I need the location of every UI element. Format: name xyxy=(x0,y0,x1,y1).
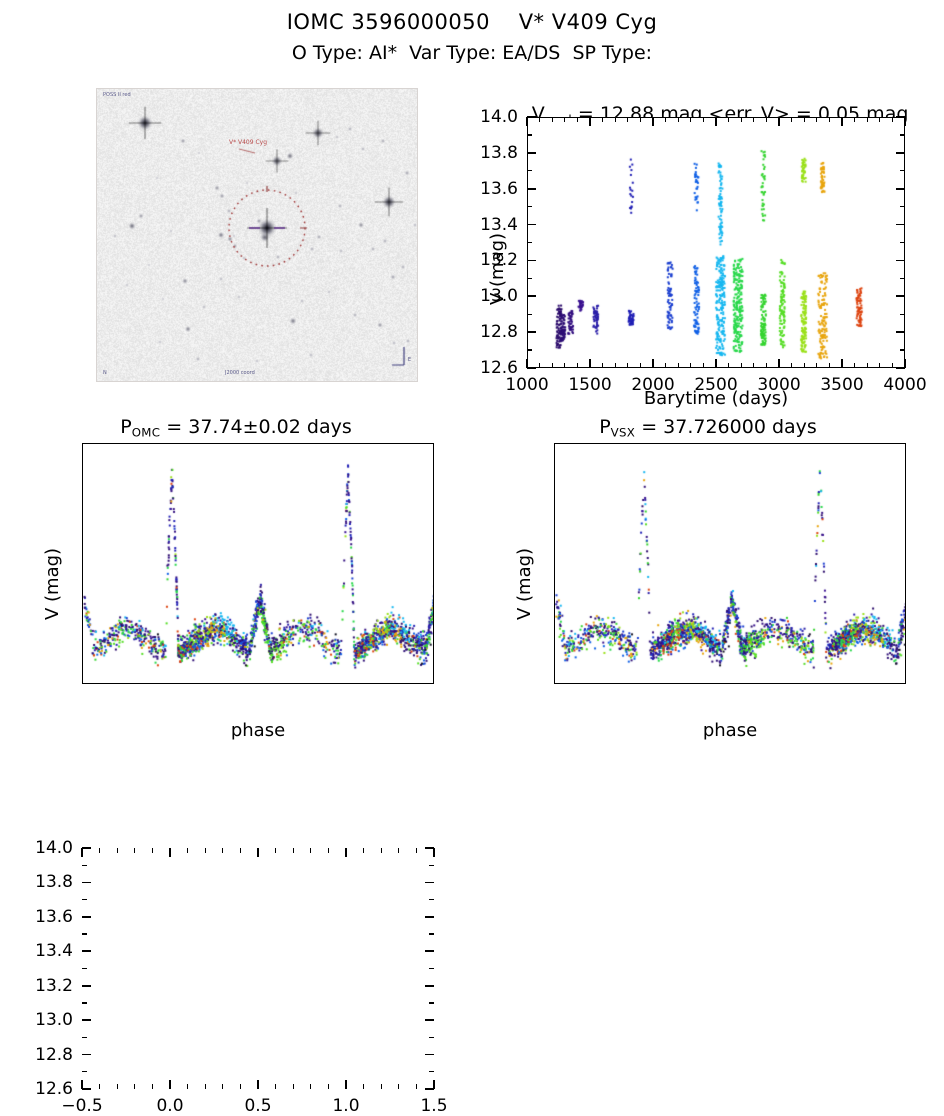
x-tick-minor xyxy=(416,1084,417,1089)
y-tick-major xyxy=(527,152,536,154)
y-tick-label: 12.8 xyxy=(35,1045,73,1065)
y-tick-minor xyxy=(527,170,532,171)
phase-vsx-title: PVSX = 37.726000 days xyxy=(472,416,944,439)
y-tick-minor xyxy=(527,314,532,315)
x-tick-minor xyxy=(99,1084,100,1089)
y-tick-minor xyxy=(82,899,87,900)
x-tick-major xyxy=(257,1080,259,1089)
x-tick-minor xyxy=(753,363,754,368)
x-tick-major xyxy=(257,848,259,857)
y-tick-minor xyxy=(900,206,905,207)
y-tick-major xyxy=(425,950,434,952)
x-tick-minor xyxy=(602,363,603,368)
y-tick-minor xyxy=(527,349,532,350)
barytime-lightcurve-panel: V (mag) Barytime (days) 1000150020002500… xyxy=(0,0,944,410)
x-tick-minor xyxy=(766,117,767,122)
phase-vsx-panel: PVSX = 37.726000 days V (mag) phase −0.5… xyxy=(472,405,944,747)
x-tick-minor xyxy=(398,848,399,853)
y-tick-major xyxy=(527,260,536,262)
x-tick-major xyxy=(589,359,591,368)
x-tick-minor xyxy=(615,117,616,122)
barytime-scatter-canvas xyxy=(528,118,905,368)
y-tick-minor xyxy=(82,1071,87,1072)
x-tick-minor xyxy=(99,848,100,853)
y-tick-minor xyxy=(527,278,532,279)
y-tick-minor xyxy=(900,134,905,135)
y-tick-minor xyxy=(82,1002,87,1003)
x-tick-major xyxy=(841,117,843,126)
y-tick-label: 12.6 xyxy=(35,1079,73,1099)
x-tick-minor xyxy=(728,363,729,368)
y-tick-major xyxy=(527,367,536,369)
x-tick-minor xyxy=(577,363,578,368)
phase-omc-period-symbol: P xyxy=(120,416,131,438)
x-tick-minor xyxy=(134,848,135,853)
x-tick-major xyxy=(652,359,654,368)
y-tick-major xyxy=(425,882,434,884)
y-tick-label: 13.8 xyxy=(480,143,518,163)
phase-vsx-plot-frame xyxy=(554,443,906,684)
x-tick-label: −0.5 xyxy=(61,1096,102,1116)
y-tick-major xyxy=(425,1054,434,1056)
x-tick-minor xyxy=(854,117,855,122)
y-tick-major xyxy=(82,882,91,884)
y-tick-minor xyxy=(900,242,905,243)
y-tick-major xyxy=(896,260,905,262)
x-tick-minor xyxy=(867,117,868,122)
x-tick-label: 1000 xyxy=(505,375,548,395)
x-tick-major xyxy=(904,117,906,126)
x-tick-minor xyxy=(816,363,817,368)
y-tick-minor xyxy=(429,1002,434,1003)
x-tick-label: 0.5 xyxy=(244,1096,271,1116)
x-tick-minor xyxy=(678,117,679,122)
x-tick-major xyxy=(715,117,717,126)
x-tick-minor xyxy=(753,117,754,122)
y-tick-label: 12.6 xyxy=(480,358,518,378)
y-tick-minor xyxy=(429,899,434,900)
x-tick-minor xyxy=(293,1084,294,1089)
x-tick-major xyxy=(841,359,843,368)
y-tick-label: 13.2 xyxy=(35,976,73,996)
x-tick-minor xyxy=(275,1084,276,1089)
x-tick-minor xyxy=(879,117,880,122)
x-tick-minor xyxy=(552,363,553,368)
y-tick-major xyxy=(527,295,536,297)
y-tick-minor xyxy=(82,933,87,934)
x-tick-minor xyxy=(892,363,893,368)
y-tick-major xyxy=(425,1088,434,1090)
x-tick-minor xyxy=(741,363,742,368)
x-tick-minor xyxy=(690,117,691,122)
y-tick-major xyxy=(82,1088,91,1090)
y-tick-major xyxy=(425,1019,434,1021)
y-tick-minor xyxy=(429,968,434,969)
y-tick-minor xyxy=(900,349,905,350)
x-tick-minor xyxy=(829,363,830,368)
x-tick-minor xyxy=(328,848,329,853)
x-tick-minor xyxy=(539,117,540,122)
phase-omc-panel: POMC = 37.74±0.02 days V (mag) phase −0.… xyxy=(0,405,472,747)
x-tick-minor xyxy=(741,117,742,122)
y-tick-major xyxy=(82,847,91,849)
x-tick-minor xyxy=(640,363,641,368)
x-tick-minor xyxy=(766,363,767,368)
x-tick-minor xyxy=(240,1084,241,1089)
y-tick-major xyxy=(896,188,905,190)
y-tick-label: 13.4 xyxy=(480,215,518,235)
x-tick-minor xyxy=(363,848,364,853)
barytime-plot-frame xyxy=(527,117,905,368)
x-tick-minor xyxy=(627,117,628,122)
y-tick-label: 13.4 xyxy=(35,941,73,961)
x-tick-minor xyxy=(804,117,805,122)
y-tick-label: 13.6 xyxy=(480,179,518,199)
x-tick-minor xyxy=(564,117,565,122)
x-tick-minor xyxy=(152,848,153,853)
x-tick-minor xyxy=(310,1084,311,1089)
x-tick-minor xyxy=(275,848,276,853)
x-tick-minor xyxy=(791,363,792,368)
x-tick-minor xyxy=(867,363,868,368)
x-tick-minor xyxy=(564,363,565,368)
x-tick-minor xyxy=(310,848,311,853)
x-tick-minor xyxy=(363,1084,364,1089)
phase-vsx-period-symbol: P xyxy=(599,416,610,438)
y-tick-major xyxy=(896,152,905,154)
y-tick-major xyxy=(527,116,536,118)
x-tick-minor xyxy=(293,848,294,853)
y-tick-major xyxy=(527,188,536,190)
x-tick-major xyxy=(81,848,83,857)
x-tick-label: 3500 xyxy=(820,375,863,395)
x-tick-minor xyxy=(829,117,830,122)
x-tick-minor xyxy=(665,363,666,368)
x-tick-major xyxy=(715,359,717,368)
y-tick-minor xyxy=(527,242,532,243)
x-tick-label: 3000 xyxy=(757,375,800,395)
y-tick-major xyxy=(896,295,905,297)
y-tick-major xyxy=(425,985,434,987)
phase-vsx-period-subscript: VSX xyxy=(611,425,635,439)
y-tick-minor xyxy=(429,865,434,866)
y-tick-minor xyxy=(900,314,905,315)
x-tick-major xyxy=(778,359,780,368)
x-tick-minor xyxy=(117,1084,118,1089)
y-tick-minor xyxy=(82,968,87,969)
phase-vsx-y-axis-label: V (mag) xyxy=(514,548,535,620)
phase-omc-x-axis-label: phase xyxy=(82,720,434,741)
y-tick-minor xyxy=(527,206,532,207)
x-tick-minor xyxy=(152,1084,153,1089)
x-tick-minor xyxy=(791,117,792,122)
phase-omc-period-subscript: OMC xyxy=(132,425,161,439)
y-tick-minor xyxy=(429,1071,434,1072)
y-tick-major xyxy=(896,224,905,226)
x-tick-label: 2500 xyxy=(694,375,737,395)
x-tick-minor xyxy=(804,363,805,368)
x-tick-major xyxy=(169,848,171,857)
y-tick-major xyxy=(82,950,91,952)
x-tick-major xyxy=(526,117,528,126)
x-tick-minor xyxy=(205,848,206,853)
y-tick-label: 13.6 xyxy=(35,907,73,927)
x-tick-minor xyxy=(222,1084,223,1089)
x-tick-minor xyxy=(539,363,540,368)
x-tick-minor xyxy=(892,117,893,122)
x-tick-minor xyxy=(398,1084,399,1089)
x-tick-minor xyxy=(703,363,704,368)
y-tick-label: 14.0 xyxy=(35,838,73,858)
x-tick-major xyxy=(778,117,780,126)
y-tick-major xyxy=(82,916,91,918)
y-tick-label: 14.0 xyxy=(480,107,518,127)
omc-datasheet: IOMC 3596000050 V* V409 Cyg O Type: AI* … xyxy=(0,0,944,747)
x-tick-minor xyxy=(640,117,641,122)
y-tick-major xyxy=(896,367,905,369)
x-tick-minor xyxy=(328,1084,329,1089)
x-tick-minor xyxy=(678,363,679,368)
x-tick-label: 1500 xyxy=(568,375,611,395)
x-tick-major xyxy=(433,848,435,857)
x-tick-minor xyxy=(134,1084,135,1089)
y-tick-major xyxy=(527,224,536,226)
y-tick-minor xyxy=(527,134,532,135)
y-tick-label: 13.0 xyxy=(480,286,518,306)
y-tick-minor xyxy=(900,278,905,279)
y-tick-label: 13.2 xyxy=(480,250,518,270)
x-tick-minor xyxy=(615,363,616,368)
x-tick-minor xyxy=(854,363,855,368)
x-tick-major xyxy=(345,1080,347,1089)
x-tick-label: 2000 xyxy=(631,375,674,395)
phase-omc-title: POMC = 37.74±0.02 days xyxy=(0,416,472,439)
x-tick-minor xyxy=(240,848,241,853)
x-tick-minor xyxy=(879,363,880,368)
x-tick-minor xyxy=(381,1084,382,1089)
y-tick-major xyxy=(82,1054,91,1056)
y-tick-minor xyxy=(429,1037,434,1038)
x-tick-minor xyxy=(703,117,704,122)
y-tick-major xyxy=(425,916,434,918)
x-tick-minor xyxy=(187,848,188,853)
x-tick-minor xyxy=(205,1084,206,1089)
y-tick-major xyxy=(896,331,905,333)
y-tick-major xyxy=(896,116,905,118)
x-tick-minor xyxy=(577,117,578,122)
x-tick-minor xyxy=(381,848,382,853)
x-tick-minor xyxy=(552,117,553,122)
y-tick-label: 13.0 xyxy=(35,1010,73,1030)
phase-omc-period-value: = 37.74±0.02 days xyxy=(160,416,352,438)
x-tick-minor xyxy=(816,117,817,122)
phase-vsx-scatter-canvas xyxy=(555,444,906,684)
y-tick-label: 12.8 xyxy=(480,322,518,342)
y-tick-label: 13.8 xyxy=(35,872,73,892)
phase-omc-y-axis-label: V (mag) xyxy=(42,548,63,620)
y-tick-major xyxy=(527,331,536,333)
x-tick-minor xyxy=(627,363,628,368)
x-tick-minor xyxy=(117,848,118,853)
y-tick-major xyxy=(425,847,434,849)
x-tick-label: 1.0 xyxy=(332,1096,359,1116)
x-tick-label: 1.5 xyxy=(420,1096,447,1116)
x-tick-minor xyxy=(222,848,223,853)
x-tick-label: 4000 xyxy=(883,375,926,395)
x-tick-minor xyxy=(690,363,691,368)
x-tick-minor xyxy=(416,848,417,853)
phase-vsx-period-value: = 37.726000 days xyxy=(635,416,817,438)
x-tick-minor xyxy=(602,117,603,122)
x-tick-major xyxy=(589,117,591,126)
phase-omc-plot-frame xyxy=(82,443,434,684)
x-tick-major xyxy=(345,848,347,857)
x-tick-minor xyxy=(665,117,666,122)
y-tick-minor xyxy=(429,933,434,934)
y-tick-minor xyxy=(900,170,905,171)
y-tick-major xyxy=(82,985,91,987)
y-tick-minor xyxy=(82,1037,87,1038)
phase-vsx-x-axis-label: phase xyxy=(554,720,906,741)
x-tick-major xyxy=(169,1080,171,1089)
x-tick-minor xyxy=(187,1084,188,1089)
y-tick-minor xyxy=(82,865,87,866)
x-tick-label: 0.0 xyxy=(156,1096,183,1116)
y-tick-major xyxy=(82,1019,91,1021)
x-tick-major xyxy=(652,117,654,126)
x-tick-minor xyxy=(728,117,729,122)
phase-omc-scatter-canvas xyxy=(83,444,434,684)
